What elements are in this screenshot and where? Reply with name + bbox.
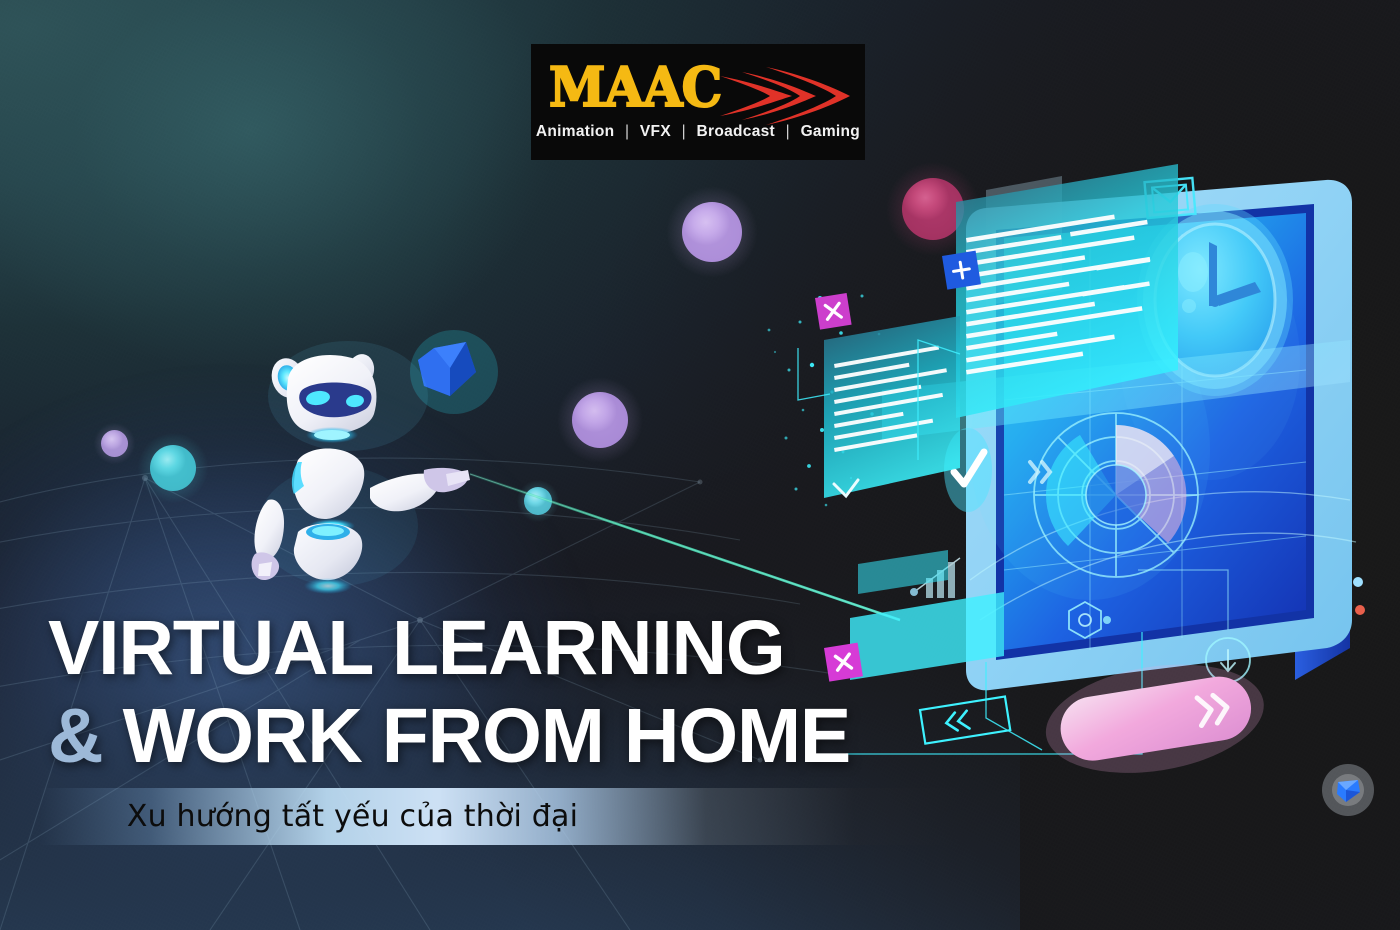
tagline-item-broadcast: Broadcast <box>697 123 776 140</box>
tagline-separator: | <box>676 123 692 140</box>
tagline-item-gaming: Gaming <box>801 123 861 140</box>
maac-wordmark: MAAC <box>549 56 721 120</box>
tagline-separator: | <box>619 123 635 140</box>
maac-tagline: Animation | VFX | Broadcast | Gaming <box>531 123 865 141</box>
badge-add <box>942 251 981 290</box>
robot-arm-left <box>252 499 284 580</box>
headline-line-1: VIRTUAL LEARNING <box>48 605 785 691</box>
tagline-separator: | <box>780 123 796 140</box>
donut-chart-widget <box>1034 413 1198 577</box>
badge-close-top <box>815 293 852 330</box>
banner-canvas: MAAC Animation | VFX | Broadcast | Gamin… <box>0 0 1400 930</box>
subtitle-text: Xu hướng tất yếu của thời đại <box>40 788 965 845</box>
tagline-item-animation: Animation <box>536 123 614 140</box>
text-panel-left <box>824 316 960 498</box>
input-card-small <box>858 550 948 594</box>
robot-arm-right <box>370 468 470 511</box>
tagline-item-vfx: VFX <box>640 123 671 140</box>
page-title: VIRTUAL LEARNING & WORK FROM HOME <box>48 612 948 773</box>
maac-logo: MAAC Animation | VFX | Broadcast | Gamin… <box>531 44 865 160</box>
floating-gem <box>1318 760 1378 825</box>
headline-ampersand: & <box>48 693 102 779</box>
status-dot-blue <box>1353 577 1363 587</box>
floating-assistant-robot <box>228 336 528 616</box>
maac-swoosh-icon <box>718 66 852 126</box>
headline-line-2: WORK FROM HOME <box>123 693 850 779</box>
status-dot-red <box>1355 605 1365 615</box>
